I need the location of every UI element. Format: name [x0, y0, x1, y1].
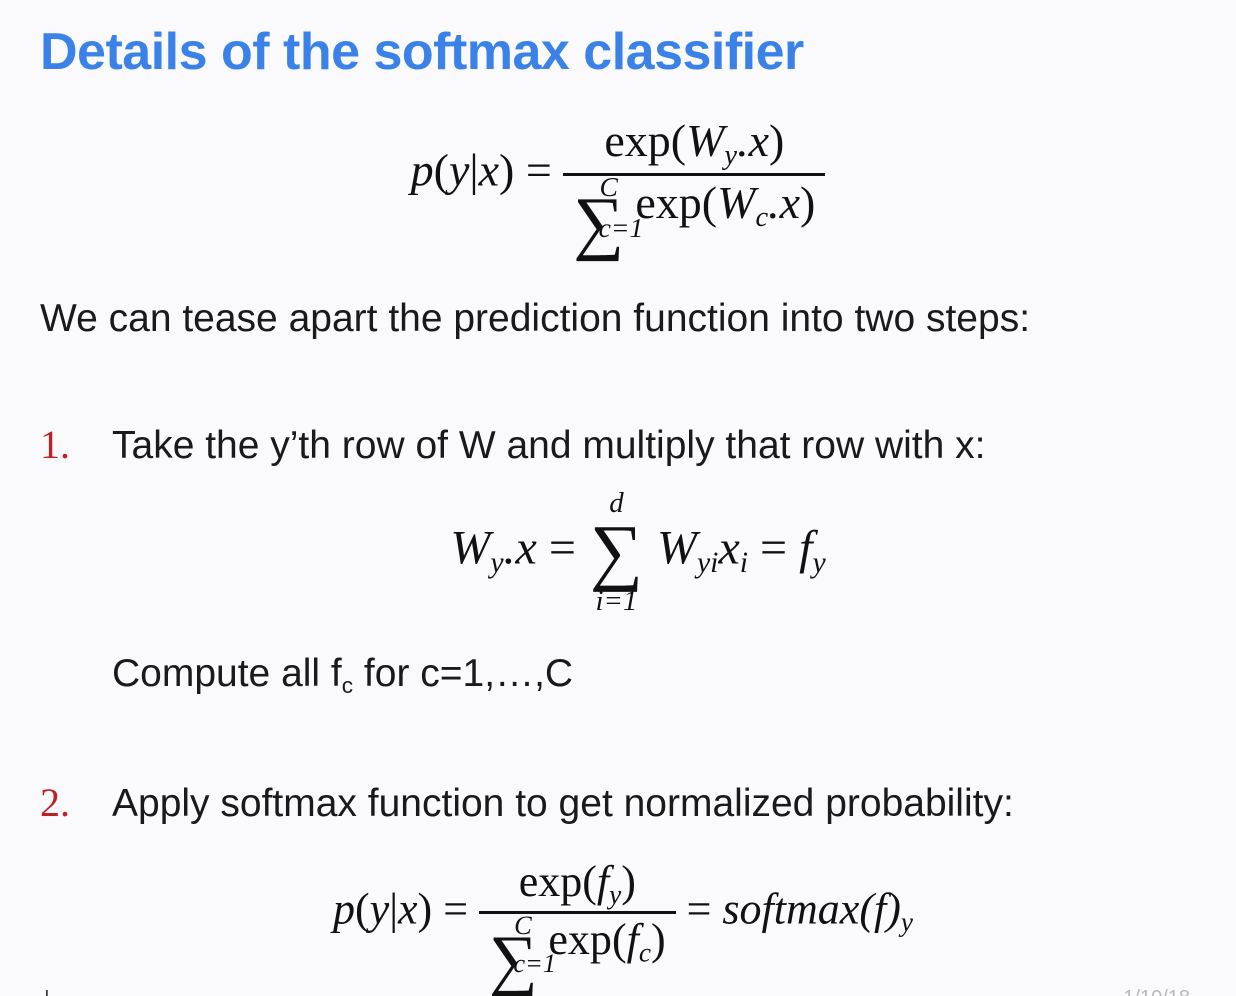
list-item-step-2: 2.Apply softmax function to get normaliz… [40, 779, 1014, 826]
formula2-lhs-W: W [450, 522, 490, 575]
formula3-den-open: ( [612, 915, 627, 964]
formula1-denominator: ∑Cc=1exp(Wc.x) [563, 176, 825, 233]
formula1-lhs-open-paren: ( [434, 145, 449, 196]
formula3-equals-2: = [687, 885, 712, 934]
formula1-lhs-bar: | [469, 145, 478, 196]
formula3-fraction: exp(fy) ∑Cc=1exp(fc) [479, 860, 676, 967]
formula1-den-open: ( [702, 177, 717, 228]
formula3-lhs-open-paren: ( [355, 885, 370, 934]
formula2-lhs-subscript: y [490, 546, 503, 579]
formula1-num-subscript: y [724, 140, 737, 171]
formula1-den-dot: . [768, 177, 780, 228]
formula1-lhs-y: y [449, 145, 469, 196]
formula2-term-x-subscript: i [740, 546, 748, 579]
formula3-den-subscript: c [639, 938, 651, 968]
footer-date: 1/10/18 [1123, 987, 1190, 996]
formula1-num-open: ( [671, 115, 686, 166]
formula-softmax-of-f: p(y|x) = exp(fy) ∑Cc=1exp(fc) = softmax(… [0, 860, 1236, 967]
formula3-den-f: f [627, 915, 639, 964]
formula1-fraction: exp(Wy.x) ∑Cc=1exp(Wc.x) [563, 118, 825, 232]
formula3-rhs-f: f [874, 885, 886, 934]
formula1-sum-lower-limit: c=1 [599, 214, 644, 242]
intro-sentence: We can tease apart the prediction functi… [40, 297, 1030, 341]
formula1-den-W: W [717, 177, 755, 228]
formula2-term-x: x [718, 522, 739, 575]
formula2-summation: d ∑ i=1 [590, 490, 643, 615]
formula3-num-f: f [597, 857, 609, 906]
formula3-numerator: exp(fy) [479, 860, 676, 914]
formula1-den-exp: exp [635, 177, 701, 228]
formula1-num-x: x [749, 115, 769, 166]
formula2-lhs-dot: . [504, 522, 516, 575]
formula2-term-W-subscript: yi [697, 546, 718, 579]
formula1-lhs-x: x [479, 145, 499, 196]
formula1-num-close: ) [769, 115, 784, 166]
formula3-num-subscript: y [609, 880, 621, 910]
formula1-equals: = [526, 145, 552, 196]
formula2-term-W: W [657, 522, 697, 575]
formula2-sum-lower-limit: i=1 [590, 588, 643, 615]
formula3-num-exp: exp [519, 857, 583, 906]
formula3-num-open: ( [582, 857, 597, 906]
formula-softmax-definition: p(y|x) = exp(Wy.x) ∑Cc=1exp(Wc.x) [0, 118, 1236, 232]
formula1-num-W: W [686, 115, 724, 166]
list-item-step-1: 1.Take the y’th row of W and multiply th… [40, 421, 986, 468]
formula1-den-close: ) [800, 177, 815, 228]
formula1-num-exp: exp [604, 115, 670, 166]
footer-mark: | [44, 986, 50, 996]
formula2-rhs-f: f [799, 522, 812, 575]
formula3-lhs-close-paren: ) [418, 885, 433, 934]
formula3-lhs-x: x [398, 885, 418, 934]
list-text-1: Take the y’th row of W and multiply that… [112, 424, 986, 467]
formula2-equals-1: = [549, 522, 576, 575]
formula1-num-dot: . [737, 115, 749, 166]
formula3-rhs-softmax: softmax [722, 885, 859, 934]
formula3-sum-upper-limit: C [514, 912, 532, 938]
formula3-rhs-open-paren: ( [859, 885, 874, 934]
formula3-lhs-y: y [370, 885, 390, 934]
page-title: Details of the softmax classifier [40, 22, 804, 82]
formula3-sum-lower-limit: c=1 [513, 950, 556, 976]
formula2-lhs-x: x [516, 522, 537, 575]
formula3-num-close: ) [621, 857, 636, 906]
sigma-icon: ∑ [590, 517, 643, 588]
list-marker-2: 2. [40, 779, 112, 826]
slide-canvas: Details of the softmax classifier p(y|x)… [0, 0, 1236, 996]
formula3-den-close: ) [651, 915, 666, 964]
compute-subscript: c [342, 673, 353, 698]
formula1-lhs-p: p [411, 145, 434, 196]
list-marker-1: 1. [40, 421, 112, 468]
formula2-rhs-subscript: y [812, 546, 825, 579]
formula3-denominator: ∑Cc=1exp(fc) [479, 914, 676, 967]
formula1-lhs-close-paren: ) [499, 145, 514, 196]
formula3-rhs-subscript: y [901, 907, 913, 937]
formula1-sum-upper-limit: C [600, 173, 618, 201]
list-text-2: Apply softmax function to get normalized… [112, 782, 1014, 825]
compute-prefix: Compute all f [112, 652, 342, 695]
formula3-lhs-bar: | [389, 885, 398, 934]
formula1-den-subscript: c [755, 201, 768, 232]
formula3-den-exp: exp [548, 915, 612, 964]
formula3-rhs-close-paren: ) [886, 885, 901, 934]
compute-suffix: for c=1,…,C [353, 652, 573, 695]
formula3-equals-1: = [443, 885, 468, 934]
formula1-summation: ∑Cc=1 [573, 183, 621, 231]
formula1-numerator: exp(Wy.x) [563, 118, 825, 176]
formula1-den-x: x [780, 177, 800, 228]
formula-row-dot-product: Wy.x = d ∑ i=1 Wyixi = fy [0, 490, 1236, 615]
formula3-lhs-p: p [333, 885, 355, 934]
formula2-equals-2: = [760, 522, 787, 575]
formula3-summation: ∑Cc=1 [489, 921, 535, 967]
compute-all-fc-line: Compute all fc for c=1,…,C [112, 652, 573, 699]
